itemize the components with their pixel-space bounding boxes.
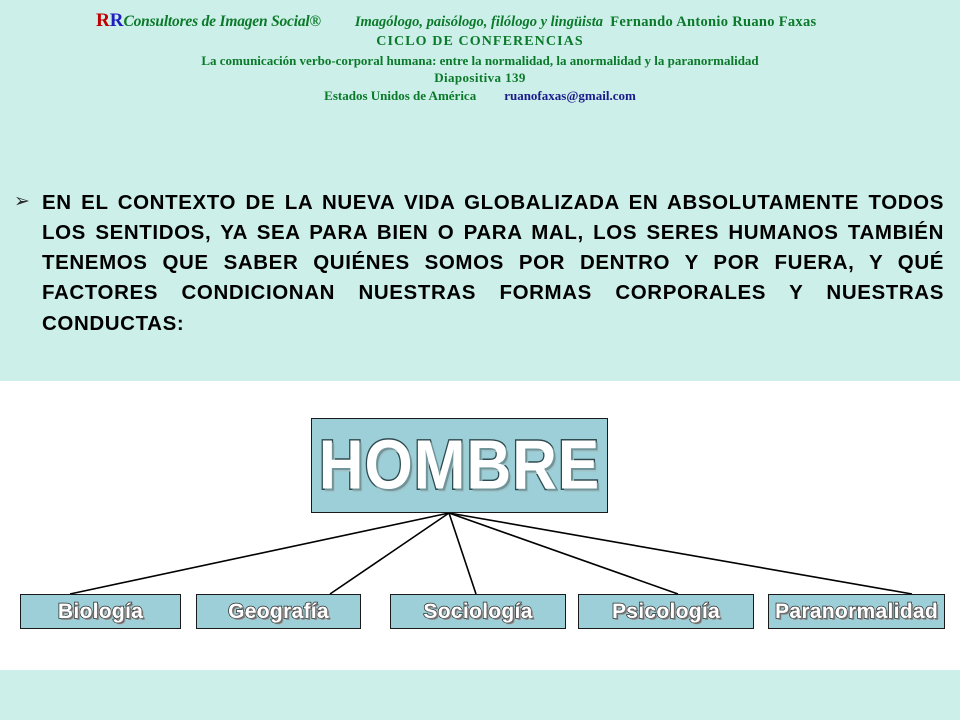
logo-reversed-r-icon: Я	[96, 10, 110, 32]
node-paranormalidad[interactable]: Paranormalidad	[768, 594, 945, 629]
bullet-paragraph-block: ➢ EN EL CONTEXTO DE LA NUEVA VIDA GLOBAL…	[14, 188, 944, 339]
logo-r-icon: R	[110, 10, 124, 31]
brand-name: Consultores de Imagen Social®	[123, 13, 320, 30]
node-geografia-label: Geografía	[228, 600, 329, 624]
connector-to-psicologia	[449, 513, 678, 594]
hierarchy-diagram: HOMBRE Biología Geografía Sociología Psi…	[0, 381, 960, 670]
node-hombre[interactable]: HOMBRE	[311, 418, 608, 513]
node-geografia[interactable]: Geografía	[196, 594, 361, 629]
slide-number-label: Diapositiva 139	[0, 70, 960, 85]
author-specialties: Imagólogo, paisólogo, filólogo y lingüis…	[355, 14, 603, 30]
node-hombre-label: HOMBRE	[319, 426, 601, 506]
country-label: Estados Unidos de América	[324, 88, 476, 103]
connector-to-biologia	[70, 513, 449, 594]
slide-header: ЯRConsultores de Imagen Social®Imagólogo…	[0, 10, 960, 103]
author-name: Fernando Antonio Ruano Faxas	[610, 14, 816, 30]
header-contact-line: Estados Unidos de Américaruanofaxas@gmai…	[0, 88, 960, 103]
lecture-title: La comunicación verbo-corporal humana: e…	[0, 53, 960, 68]
node-biologia[interactable]: Biología	[20, 594, 181, 629]
node-sociologia-label: Sociología	[423, 600, 532, 624]
connector-to-sociologia	[449, 513, 476, 594]
bullet-arrow-icon: ➢	[14, 192, 42, 211]
node-biologia-label: Biología	[58, 600, 143, 624]
bullet-paragraph-text: EN EL CONTEXTO DE LA NUEVA VIDA GLOBALIZ…	[42, 188, 944, 339]
node-sociologia[interactable]: Sociología	[390, 594, 566, 629]
header-brand-line: ЯRConsultores de Imagen Social®Imagólogo…	[0, 10, 960, 32]
node-psicologia-label: Psicología	[612, 600, 720, 624]
node-paranormalidad-label: Paranormalidad	[775, 600, 938, 624]
node-psicologia[interactable]: Psicología	[578, 594, 754, 629]
slide-canvas: ЯRConsultores de Imagen Social®Imagólogo…	[0, 0, 960, 720]
connector-to-paranormalidad	[449, 513, 912, 594]
conference-series-title: CICLO DE CONFERENCIAS	[0, 34, 960, 51]
contact-email[interactable]: ruanofaxas@gmail.com	[504, 88, 636, 103]
